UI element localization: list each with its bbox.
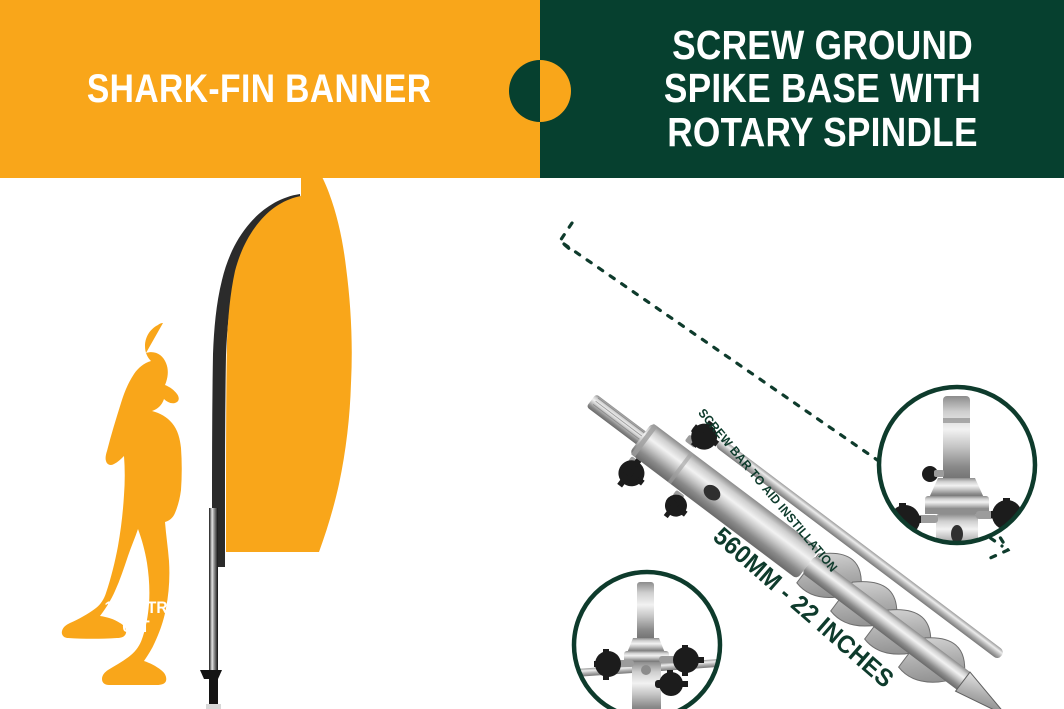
content-area: 1.82MTR 6FT 2.10X0.50M BANNER SIZE (2.50… (0, 178, 1064, 709)
divider-circle-left-half (509, 60, 540, 122)
person-silhouette (62, 323, 182, 685)
page-title-right-line2: SPIKE BASE WITH (663, 67, 980, 110)
banner-pole-base-foot (200, 670, 222, 709)
page-title-right-line3: ROTARY SPINDLE (663, 111, 980, 154)
illustration-layer (0, 178, 1064, 709)
inset-photo-spindle-crossbar (574, 572, 720, 709)
page-title-right: SCREW GROUND SPIKE BASE WITH ROTARY SPIN… (663, 24, 980, 154)
header-bar: SHARK-FIN BANNER SCREW GROUND SPIKE BASE… (0, 0, 1064, 178)
divider-split-circle-icon (509, 60, 571, 122)
page-title-left: SHARK-FIN BANNER (87, 67, 432, 112)
page-title-right-line1: SCREW GROUND (663, 24, 980, 67)
infographic-page: SHARK-FIN BANNER SCREW GROUND SPIKE BASE… (0, 0, 1064, 709)
spindle-splined-shaft (586, 394, 648, 446)
shark-fin-banner-graphic (200, 178, 352, 709)
header-left-panel: SHARK-FIN BANNER (0, 0, 540, 178)
divider-circle-right-half (540, 60, 571, 122)
header-right-panel: SCREW GROUND SPIKE BASE WITH ROTARY SPIN… (540, 0, 1064, 178)
inset-photo-rotary-spindle-top (879, 387, 1035, 554)
